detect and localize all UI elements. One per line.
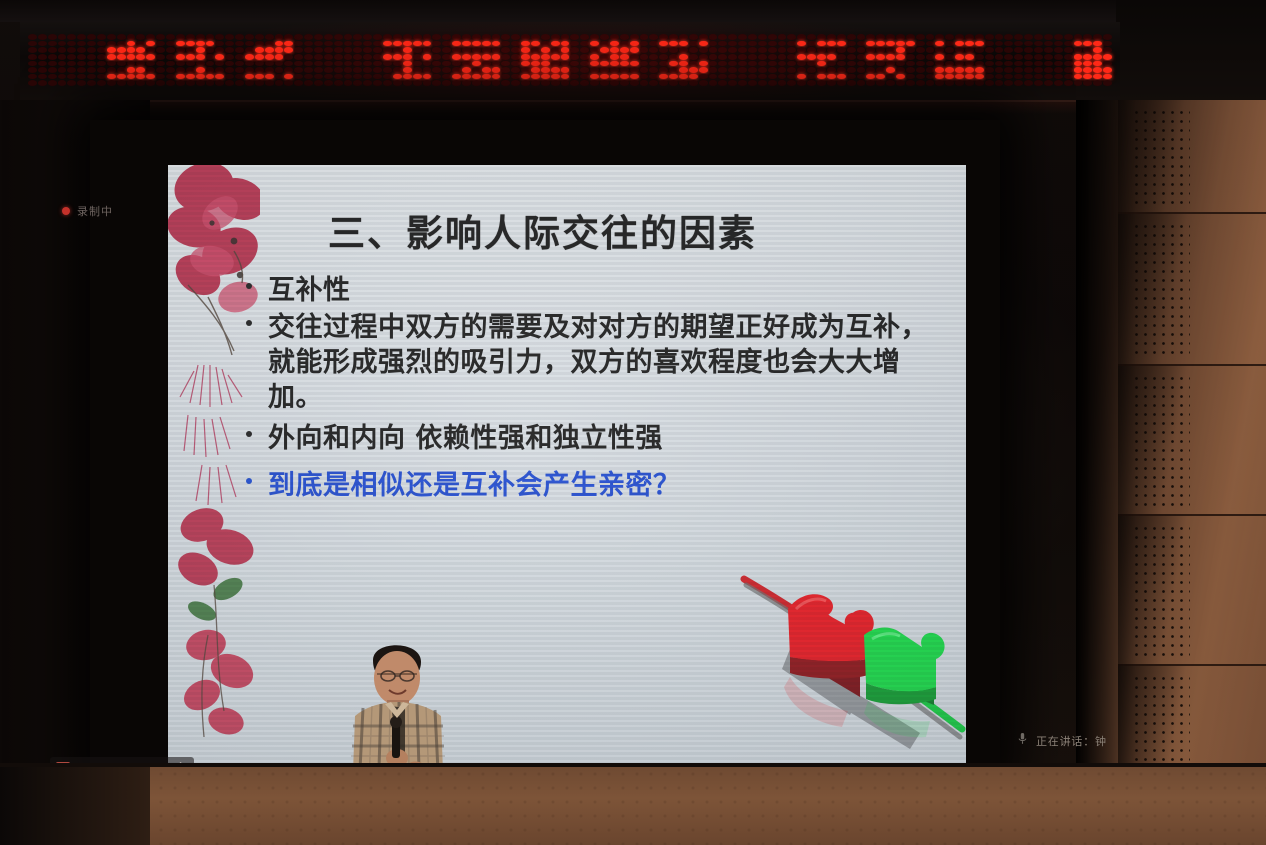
- led-banner: [20, 22, 1120, 102]
- slide-bullet-list: 互补性 交往过程中双方的需要及对对方的期望正好成为互补，就能形成强烈的吸引力，双…: [240, 273, 940, 506]
- bullet-text: 外向和内向 依赖性强和独立性强: [268, 421, 940, 456]
- ceiling-band: [0, 0, 1266, 22]
- bullet-dot-icon: [246, 283, 252, 289]
- bullet-dot-icon: [246, 478, 252, 484]
- perforation-pattern: [1132, 524, 1190, 656]
- screenshot-root: 录制中: [0, 0, 1266, 845]
- projected-slide: 三、影响人际交往的因素 互补性 交往过程中双方的需要及对对方的期望正好成为互补，…: [168, 165, 966, 770]
- slide-bullet: 到底是相似还是互补会产生亲密？: [240, 468, 940, 503]
- active-speaker-label: 正在讲话：钟: [1036, 733, 1107, 749]
- perforation-pattern: [1132, 374, 1190, 506]
- bullet-dot-icon: [246, 431, 252, 437]
- wall-panel: [1118, 214, 1266, 366]
- wall-panel: [1118, 100, 1266, 214]
- perforation-pattern: [1132, 222, 1190, 356]
- puzzle-pieces-image: [738, 565, 966, 760]
- wall-shadow: [1076, 100, 1136, 800]
- microphone-icon: [1018, 732, 1027, 750]
- slide-title: 三、影响人际交往的因素: [328, 203, 888, 257]
- stage-skirt: [0, 767, 1266, 845]
- bullet-dot-icon: [246, 320, 252, 326]
- slide-bullet: 外向和内向 依赖性强和独立性强: [240, 421, 940, 456]
- slide-bullet: 互补性: [240, 273, 940, 308]
- led-reflection: [20, 100, 1120, 114]
- right-acoustic-wall: [1076, 100, 1266, 800]
- wall-panel: [1118, 516, 1266, 666]
- puzzle-svg: [738, 565, 966, 760]
- recording-indicator: 录制中: [62, 203, 113, 219]
- stage-skirt-shadow: [0, 767, 150, 845]
- slide-bullet: 交往过程中双方的需要及对对方的期望正好成为互补，就能形成强烈的吸引力，双方的喜欢…: [240, 310, 940, 415]
- active-speaker-bar: 正在讲话：钟: [1018, 732, 1107, 750]
- recording-dot-icon: [62, 207, 70, 215]
- bullet-text: 互补性: [268, 273, 940, 308]
- recording-label: 录制中: [77, 203, 113, 219]
- bullet-text: 交往过程中双方的需要及对对方的期望正好成为互补，就能形成强烈的吸引力，双方的喜欢…: [268, 310, 940, 415]
- bullet-text: 到底是相似还是互补会产生亲密？: [268, 468, 940, 503]
- perforation-pattern: [1132, 108, 1190, 204]
- led-dot-matrix: [28, 34, 1112, 86]
- wall-panel: [1118, 366, 1266, 516]
